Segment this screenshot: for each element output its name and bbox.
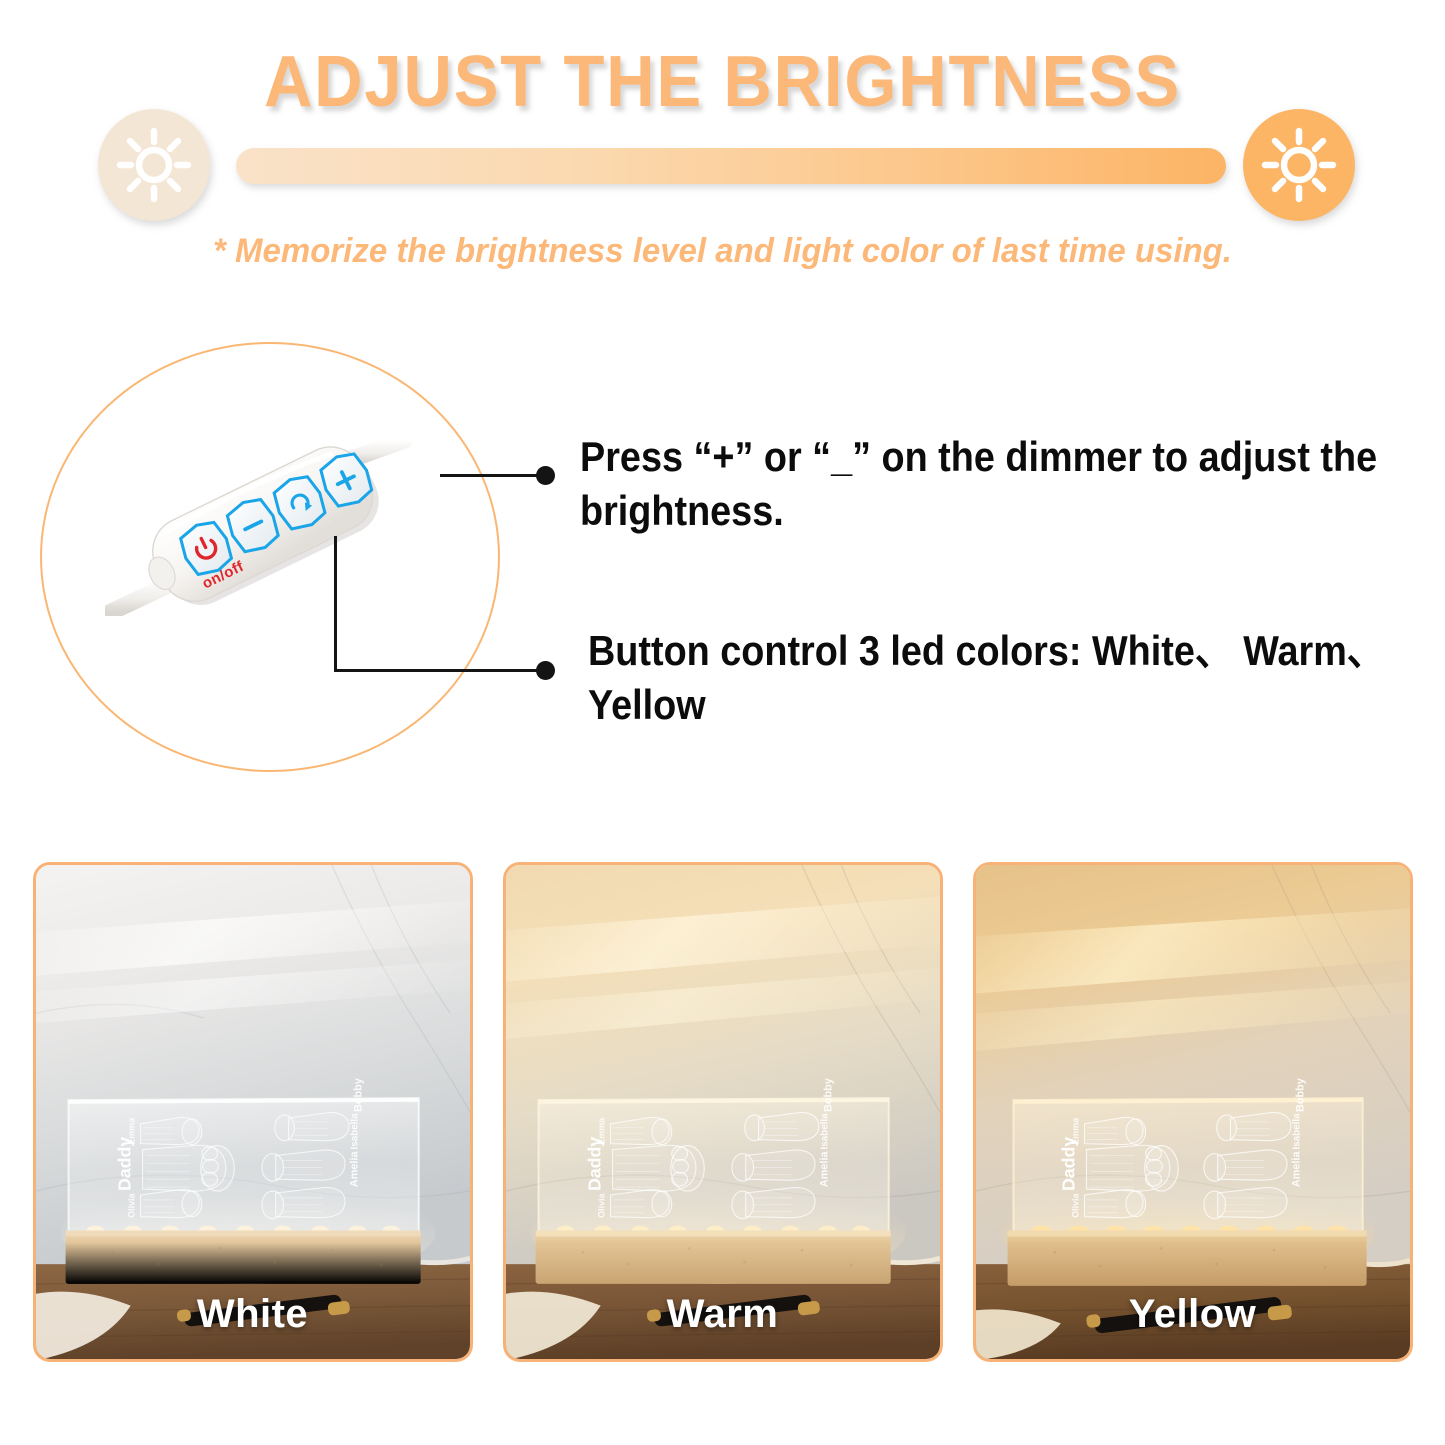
acrylic-plaque: Daddy Emma Olivia Bobby Isabella Amelia: [68, 1078, 418, 1232]
leader-dot-plus: [536, 466, 555, 485]
product-card-yellow[interactable]: Daddy Emma Olivia Bobby Isabella Amelia: [973, 862, 1413, 1362]
plaque-name-amelia: Amelia: [348, 1151, 360, 1188]
plaque-name-isabella: Isabella: [1291, 1113, 1302, 1150]
plaque-name-emma: Emma: [596, 1118, 606, 1145]
plaque-name-amelia: Amelia: [1290, 1151, 1302, 1188]
product-card-white[interactable]: Daddy Emma Olivia Bobby Isabella Amelia: [33, 862, 473, 1362]
color-label-yellow: Yellow: [976, 1292, 1410, 1337]
sun-bright-icon: [1243, 109, 1355, 221]
product-photo-yellow: Daddy Emma Olivia Bobby Isabella Amelia: [976, 865, 1410, 1359]
sun-dim-icon: [98, 109, 210, 221]
callout-led-colors-text: Button control 3 led colors: White、 Warm…: [588, 624, 1434, 732]
dimmer-remote[interactable]: on/off: [105, 426, 415, 616]
plaque-name-olivia: Olivia: [126, 1193, 136, 1217]
plaque-name-amelia: Amelia: [818, 1151, 830, 1188]
acrylic-plaque: Daddy Emma Olivia Bobby Isabella Amelia: [1013, 1078, 1362, 1232]
wooden-base: [1007, 1231, 1409, 1286]
plaque-name-isabella: Isabella: [349, 1113, 360, 1150]
leader-line-color-horizontal: [334, 669, 540, 672]
wooden-base: [535, 1231, 939, 1284]
color-label-warm: Warm: [506, 1292, 940, 1337]
plaque-name-bobby: Bobby: [352, 1078, 364, 1112]
product-photo-white: Daddy Emma Olivia Bobby Isabella Amelia: [36, 865, 470, 1359]
leader-line-color-vertical: [334, 536, 337, 672]
plaque-name-bobby: Bobby: [1294, 1078, 1306, 1112]
plaque-name-olivia: Olivia: [596, 1193, 606, 1217]
callout-section: on/off: [0, 300, 1445, 860]
brightness-slider[interactable]: [236, 148, 1226, 184]
product-gallery: Daddy Emma Olivia Bobby Isabella Amelia: [0, 862, 1445, 1372]
plaque-name-olivia: Olivia: [1070, 1193, 1080, 1217]
leader-dot-color: [536, 661, 555, 680]
color-label-white: White: [36, 1292, 470, 1337]
plaque-name-emma: Emma: [1070, 1118, 1080, 1145]
header-section: ADJUST THE BRIGHTNESS: [0, 0, 1445, 300]
product-photo-warm: Daddy Emma Olivia Bobby Isabella Amelia: [506, 865, 940, 1359]
leader-line-plus: [440, 474, 540, 477]
plaque-name-bobby: Bobby: [822, 1078, 834, 1112]
memorize-note: * Memorize the brightness level and ligh…: [22, 232, 1424, 271]
plaque-name-emma: Emma: [126, 1118, 136, 1145]
acrylic-plaque: Daddy Emma Olivia Bobby Isabella Amelia: [538, 1078, 888, 1232]
product-card-warm[interactable]: Daddy Emma Olivia Bobby Isabella Amelia: [503, 862, 943, 1362]
callout-brightness-text: Press “+” or “_” on the dimmer to adjust…: [580, 430, 1408, 538]
page-title: ADJUST THE BRIGHTNESS: [51, 46, 1395, 118]
plaque-name-isabella: Isabella: [819, 1113, 830, 1150]
wooden-base: [65, 1231, 469, 1284]
